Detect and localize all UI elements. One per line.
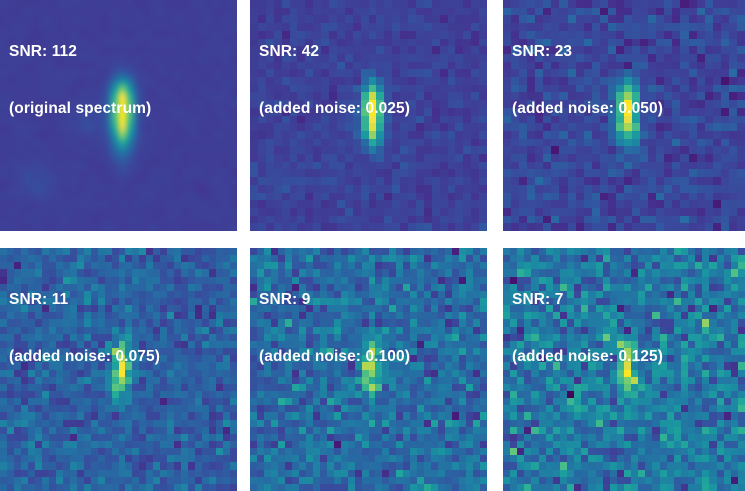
heatmap-canvas-5 — [503, 248, 745, 491]
heatmap-canvas-4 — [250, 248, 487, 491]
figure-panel-grid: SNR: 112 (original spectrum) SNR: 42 (ad… — [0, 0, 745, 491]
heatmap-canvas-1 — [250, 0, 487, 231]
heatmap-panel-4: SNR: 9 (added noise: 0.100) — [250, 248, 487, 491]
heatmap-panel-0: SNR: 112 (original spectrum) — [0, 0, 237, 231]
heatmap-canvas-3 — [0, 248, 237, 491]
heatmap-panel-5: SNR: 7 (added noise: 0.125) — [503, 248, 745, 491]
heatmap-panel-2: SNR: 23 (added noise: 0.050) — [503, 0, 745, 231]
heatmap-canvas-0 — [0, 0, 237, 231]
heatmap-panel-1: SNR: 42 (added noise: 0.025) — [250, 0, 487, 231]
heatmap-canvas-2 — [503, 0, 745, 231]
heatmap-panel-3: SNR: 11 (added noise: 0.075) — [0, 248, 237, 491]
